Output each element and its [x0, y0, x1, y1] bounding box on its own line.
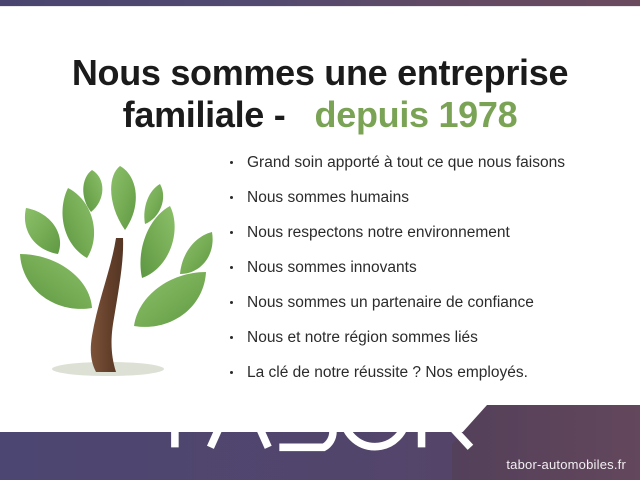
list-item-label: Nous sommes innovants — [247, 259, 417, 276]
bullet-dot-icon — [230, 196, 233, 199]
list-item: La clé de notre réussite ? Nos employés. — [228, 362, 632, 383]
tree-trunk — [91, 238, 123, 372]
list-item: Nous sommes un partenaire de confiance — [228, 292, 632, 313]
slide-root: Nous sommes une entreprise familiale - d… — [0, 0, 640, 480]
list-item-label: Nous respectons notre environnement — [247, 224, 510, 241]
list-item-label: Grand soin apporté à tout ce que nous fa… — [247, 154, 565, 171]
headline-highlight-year: depuis 1978 — [315, 94, 518, 135]
feature-list: Grand soin apporté à tout ce que nous fa… — [228, 152, 632, 383]
bullet-dot-icon — [230, 371, 233, 374]
page-title: Nous sommes une entreprise familiale - d… — [0, 52, 640, 136]
footer-accent-shape — [452, 405, 640, 480]
list-item: Nous et notre région sommes liés — [228, 327, 632, 348]
list-item-label: Nous et notre région sommes liés — [247, 329, 478, 346]
top-hairline — [0, 6, 640, 7]
bullet-dot-icon — [230, 301, 233, 304]
list-item-label: La clé de notre réussite ? Nos employés. — [247, 364, 528, 381]
list-item: Grand soin apporté à tout ce que nous fa… — [228, 152, 632, 173]
list-item: Nous respectons notre environnement — [228, 222, 632, 243]
footer-banner: tabor-automobiles.fr — [0, 400, 640, 480]
list-item: Nous sommes innovants — [228, 257, 632, 278]
list-item-label: Nous sommes un partenaire de confiance — [247, 294, 534, 311]
headline-line-2-black: familiale - — [123, 94, 286, 135]
headline-line-1: Nous sommes une entreprise — [72, 52, 568, 93]
list-item-label: Nous sommes humains — [247, 189, 409, 206]
bullet-dot-icon — [230, 161, 233, 164]
bullet-dot-icon — [230, 266, 233, 269]
bullet-dot-icon — [230, 231, 233, 234]
bullet-dot-icon — [230, 336, 233, 339]
headline-line-2: familiale - depuis 1978 — [0, 94, 640, 136]
tree-illustration — [12, 150, 228, 390]
list-item: Nous sommes humains — [228, 187, 632, 208]
